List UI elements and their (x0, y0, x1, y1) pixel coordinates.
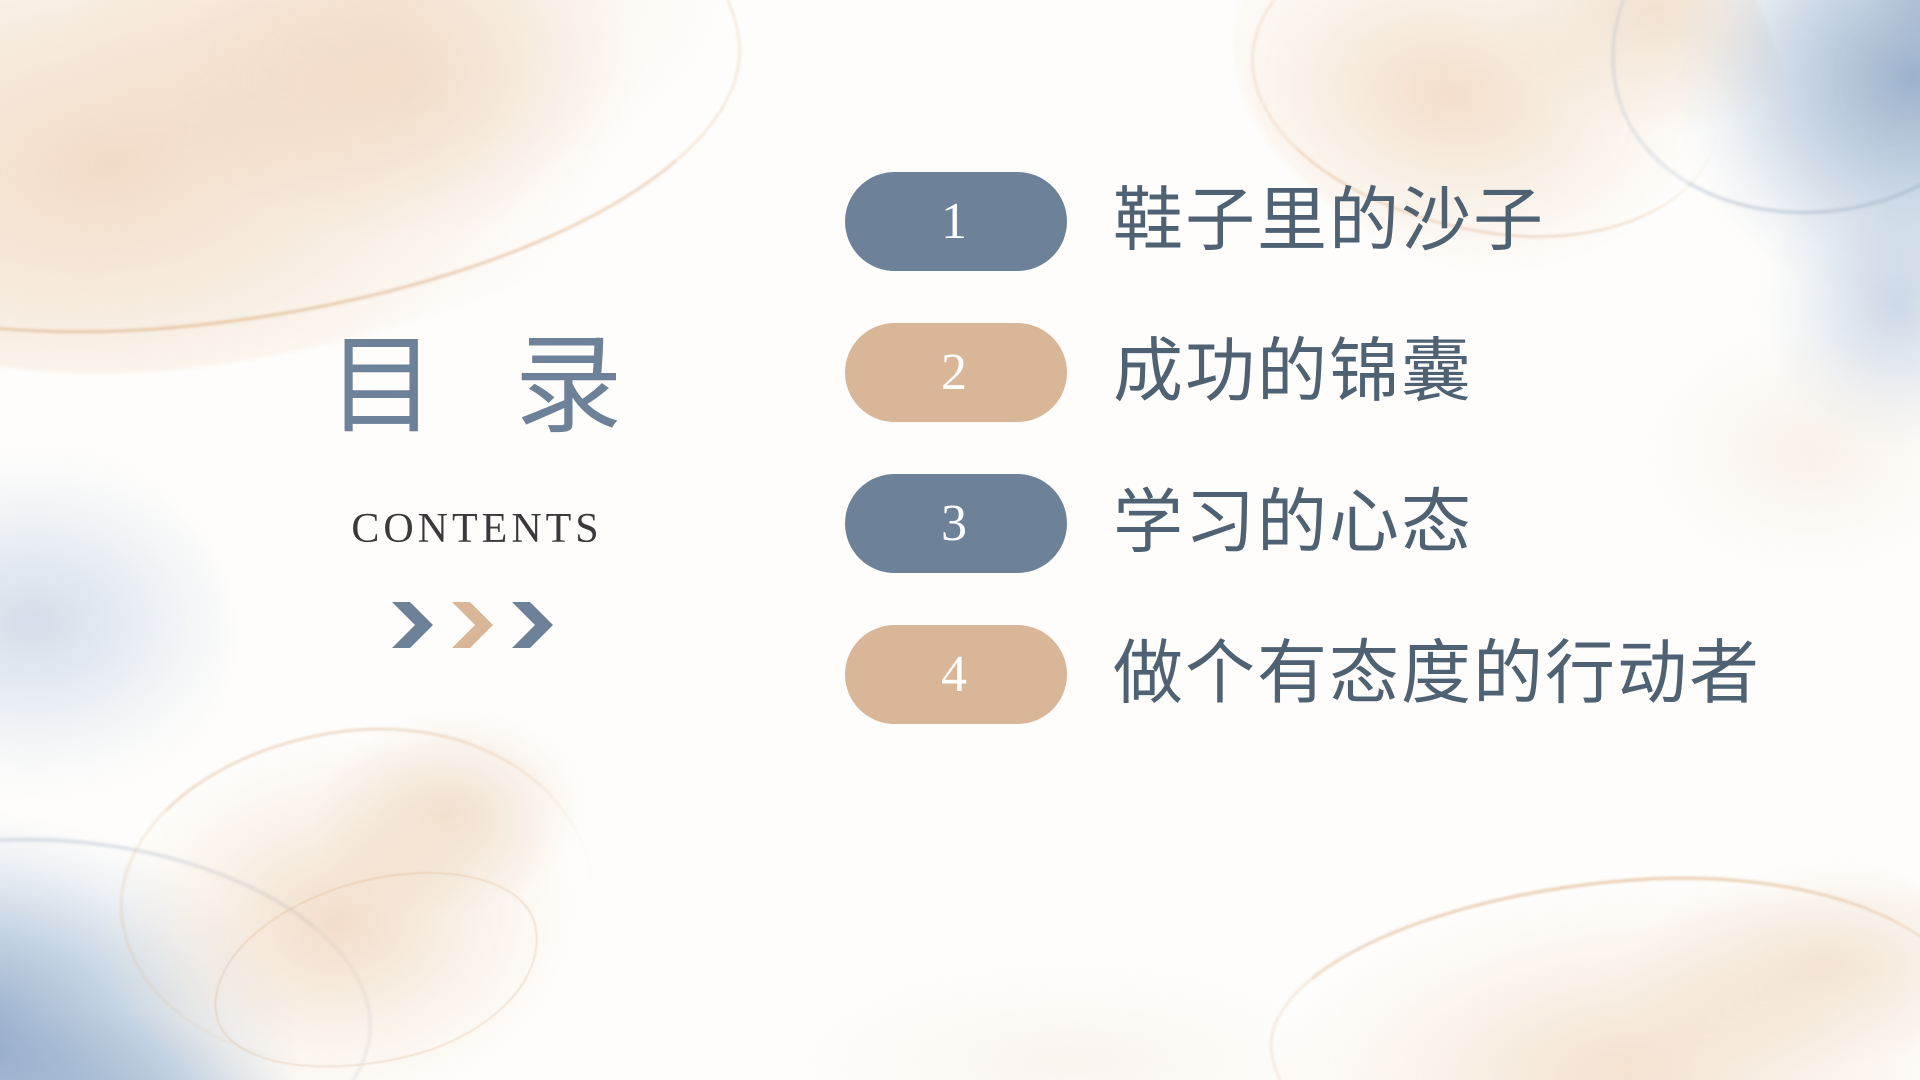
watercolor-bottom-left-blue-edge (0, 814, 385, 1080)
contents-item-3[interactable]: 3 学习的心态 (845, 474, 1761, 573)
page-title-en: CONTENTS (260, 505, 690, 553)
contents-number-2: 2 (941, 347, 967, 399)
contents-slide: 目 录 CONTENTS 1 鞋子里的沙子 2 成功的锦囊 (0, 0, 1920, 1080)
watercolor-top-left-edge (0, 0, 764, 376)
contents-number-4: 4 (941, 649, 967, 701)
page-title-cn: 目 录 (260, 330, 690, 447)
chevron-right-icon-2 (448, 599, 502, 651)
chevron-right-icon-3 (508, 599, 562, 651)
contents-number-badge-4[interactable]: 4 (845, 625, 1067, 724)
contents-number-badge-2[interactable]: 2 (845, 323, 1067, 422)
contents-number-3: 3 (941, 498, 967, 550)
contents-item-1[interactable]: 1 鞋子里的沙子 (845, 172, 1761, 271)
watercolor-bottom-center-soft (760, 960, 1380, 1080)
contents-item-4[interactable]: 4 做个有态度的行动者 (845, 625, 1761, 724)
contents-label-2[interactable]: 成功的锦囊 (1113, 338, 1473, 408)
contents-item-2[interactable]: 2 成功的锦囊 (845, 323, 1761, 422)
watercolor-bottom-left-peach-edge (102, 702, 611, 1080)
watercolor-top-left-secondary (160, 0, 720, 240)
contents-label-3[interactable]: 学习的心态 (1113, 489, 1473, 559)
contents-label-4[interactable]: 做个有态度的行动者 (1113, 640, 1761, 710)
watercolor-bottom-right-peach (1221, 809, 1920, 1080)
watercolor-bottom-left-blue (0, 752, 482, 1080)
watercolor-left-middle-blue (0, 430, 230, 830)
contents-number-1: 1 (941, 196, 967, 248)
watercolor-bottom-right-edge (1258, 850, 1920, 1080)
contents-number-badge-1[interactable]: 1 (845, 172, 1067, 271)
chevron-right-icon-1 (388, 599, 442, 651)
heading-block: 目 录 CONTENTS (260, 330, 690, 651)
contents-list: 1 鞋子里的沙子 2 成功的锦囊 3 学习的心态 4 做个有态度的行动者 (845, 172, 1761, 724)
chevron-decoration (260, 599, 690, 651)
watercolor-bottom-left-peach (63, 663, 676, 1080)
contents-label-1[interactable]: 鞋子里的沙子 (1113, 187, 1545, 257)
contents-number-badge-3[interactable]: 3 (845, 474, 1067, 573)
watercolor-bottom-left-thread (193, 843, 559, 1080)
